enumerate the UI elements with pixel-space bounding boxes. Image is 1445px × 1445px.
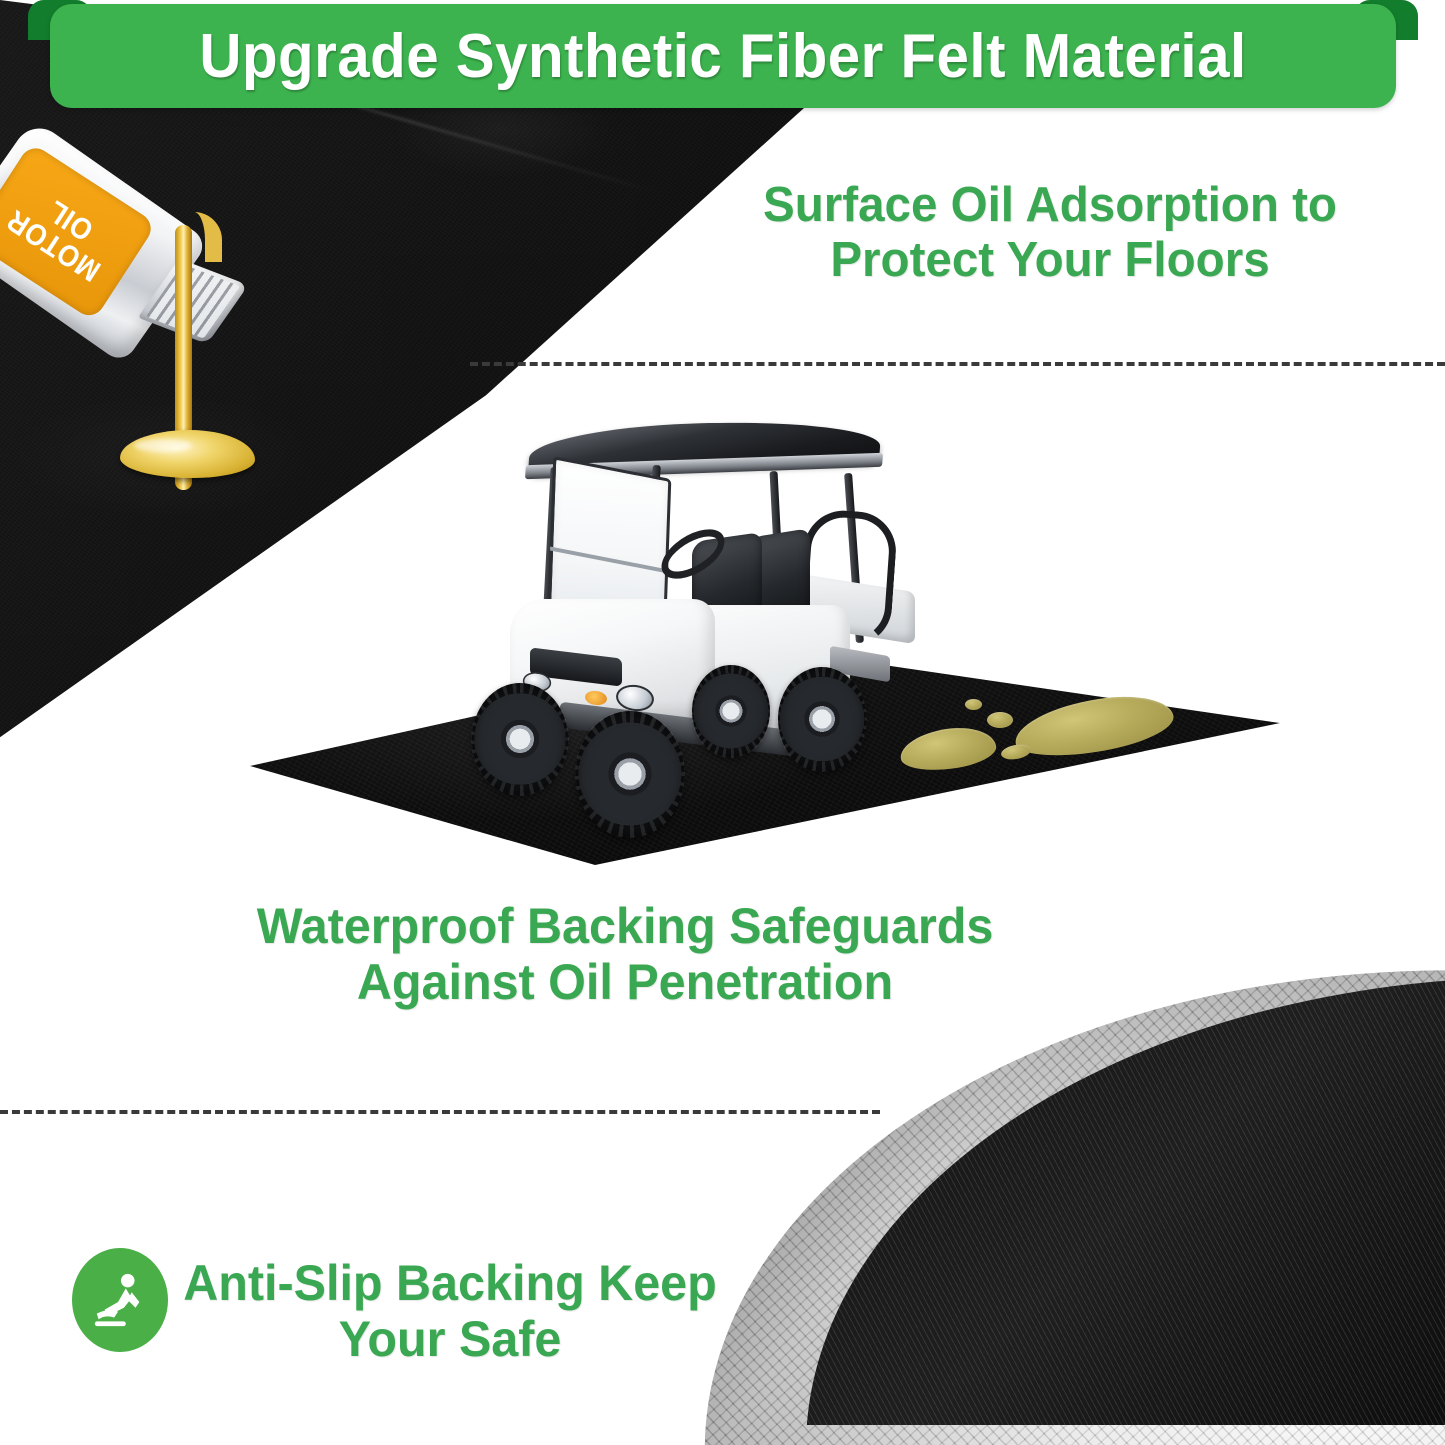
cart-roof: [528, 417, 882, 475]
cart-wheel-rear-left: [692, 665, 770, 757]
cart-steering-wheel: [656, 519, 730, 589]
cart-safety-rail: [797, 508, 898, 648]
garage-floor-mat: [248, 640, 1284, 872]
cart-headlight-right: [614, 682, 655, 713]
feature-heading-anti-slip-backing: Anti-Slip Backing Keep Your Safe: [178, 1255, 721, 1367]
cart-rear-bumper: [830, 646, 890, 683]
cart-post-front-left: [541, 467, 558, 647]
cart-wheel-front-right: [576, 711, 684, 837]
golf-cart: [430, 415, 900, 785]
cart-turn-signal: [584, 690, 608, 707]
cart-post-front-right: [643, 465, 661, 605]
oil-stain-small-b: [965, 699, 982, 710]
cart-post-rear-left: [770, 471, 789, 681]
oil-stain-large: [1011, 688, 1177, 764]
cart-body-front: [510, 599, 715, 719]
cart-wheel-front-left: [472, 683, 568, 795]
dashed-divider-bottom: [0, 1110, 880, 1114]
oil-stain-small-a: [987, 712, 1013, 728]
material-closeup: [640, 905, 1445, 1445]
cart-windshield: [547, 456, 672, 669]
slip-hazard-icon: [89, 1269, 151, 1331]
product-infographic: OIL MOTOR Upgrade Synthetic Fiber Felt M…: [0, 0, 1445, 1445]
cart-post-rear-right: [844, 473, 864, 643]
cart-roof-lip: [525, 453, 883, 479]
oil-stain-small-c: [1000, 743, 1032, 762]
feature-heading-surface-oil-adsorption: Surface Oil Adsorption to Protect Your F…: [701, 178, 1399, 288]
header-banner: Upgrade Synthetic Fiber Felt Material: [50, 4, 1396, 108]
dashed-divider-top: [470, 362, 1445, 366]
cart-body-mid: [650, 605, 850, 735]
slip-hazard-badge: [72, 1248, 168, 1352]
cart-seat-cushion: [674, 606, 792, 660]
cart-wheel-rear-right: [778, 667, 866, 771]
oil-puddle: [120, 430, 255, 478]
banner-title: Upgrade Synthetic Fiber Felt Material: [199, 21, 1246, 92]
cart-chassis: [560, 702, 810, 759]
cart-rear-seat: [800, 574, 915, 644]
cart-headlight-left: [522, 670, 553, 693]
oil-stain-medium: [898, 723, 999, 776]
cart-grille: [530, 647, 622, 686]
cart-seat-back-left: [692, 532, 762, 637]
cart-seat-back-right: [748, 528, 810, 630]
